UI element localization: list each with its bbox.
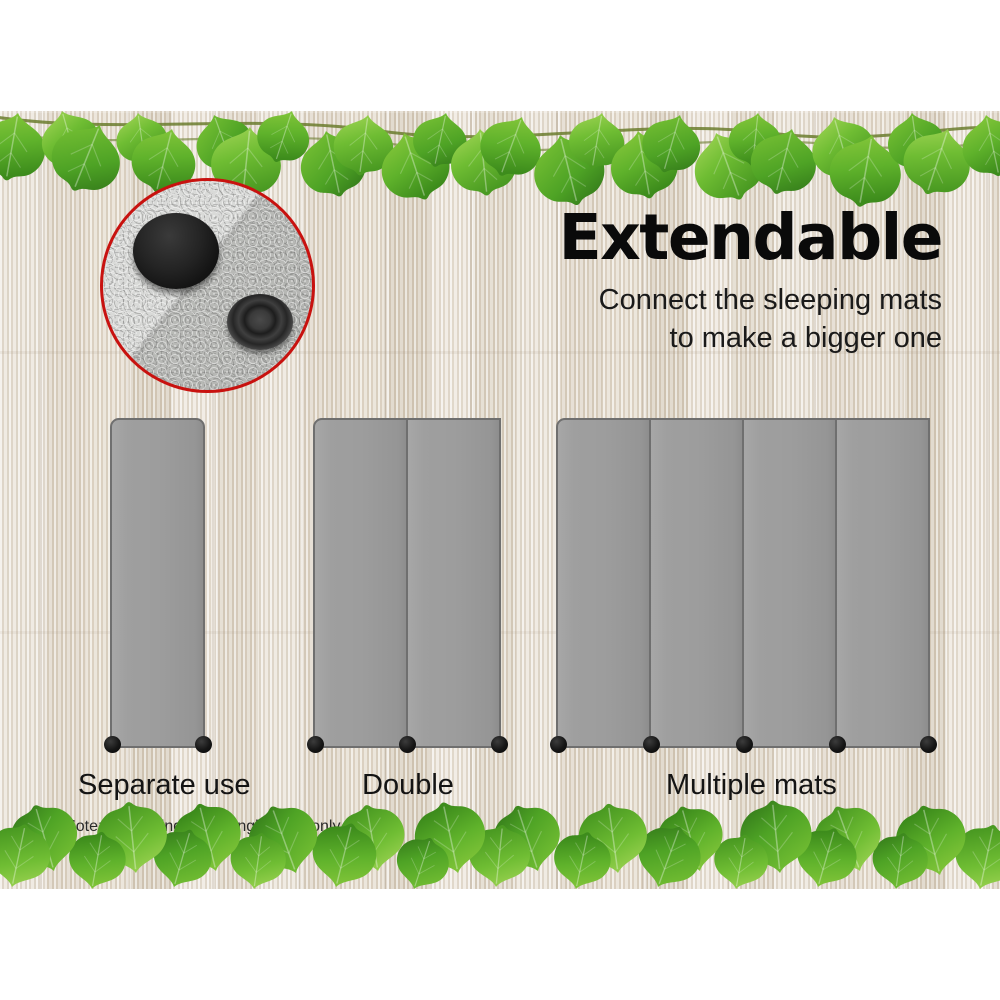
- config-multiple-mats: [556, 418, 930, 748]
- caption-double: Double: [362, 769, 454, 802]
- mat-panel: [313, 418, 408, 748]
- mat-panel: [835, 418, 930, 748]
- product-infographic: Extendable Connect the sleeping mats to …: [0, 0, 1000, 1000]
- mat-panel: [406, 418, 501, 748]
- subtitle-line-2: to make a bigger one: [522, 319, 942, 357]
- snap-socket-icon: [227, 294, 293, 350]
- footnote-text: *Note: This listing is for single mats o…: [58, 818, 344, 836]
- snap-fastener-closeup-inset: [100, 178, 315, 393]
- subtitle-line-1: Connect the sleeping mats: [522, 281, 942, 319]
- mat-panel: [110, 418, 205, 748]
- mat-panel: [649, 418, 744, 748]
- headline-block: Extendable Connect the sleeping mats to …: [522, 206, 942, 358]
- config-double-mats: [313, 418, 501, 748]
- mat-panel: [742, 418, 837, 748]
- config-single-mats: [110, 418, 205, 748]
- caption-separate-use: Separate use: [78, 769, 251, 802]
- mat-panel: [556, 418, 651, 748]
- page-title: Extendable: [522, 206, 942, 269]
- snap-stud-icon: [133, 213, 219, 289]
- page-subtitle: Connect the sleeping mats to make a bigg…: [522, 281, 942, 358]
- caption-multiple-mats: Multiple mats: [666, 769, 837, 802]
